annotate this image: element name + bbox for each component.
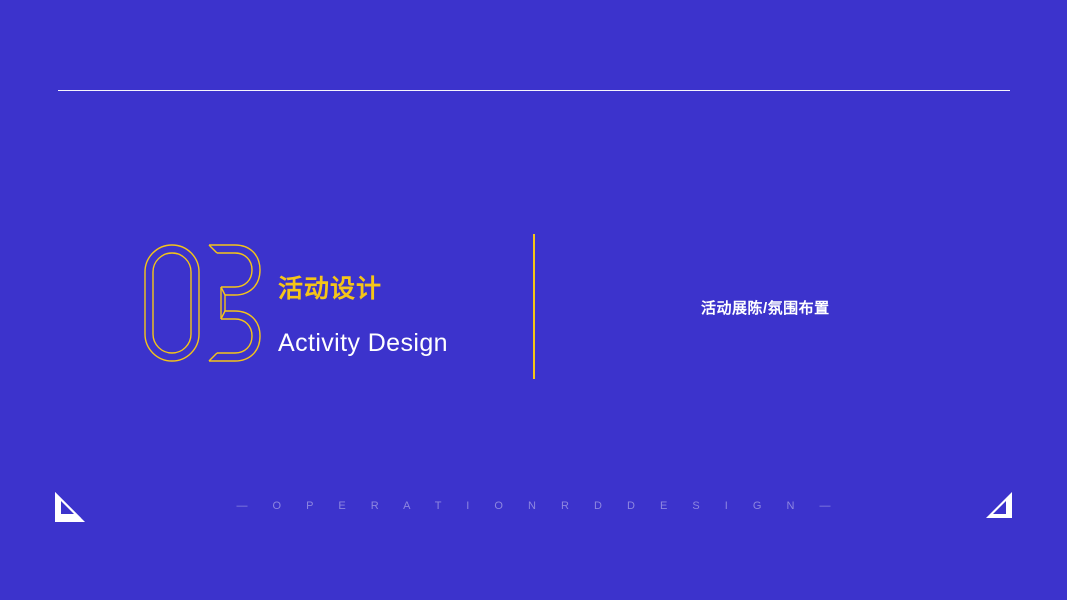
section-title-cn: 活动设计 <box>278 272 518 306</box>
corner-triangle-left-icon <box>55 492 85 522</box>
vertical-divider <box>533 234 535 379</box>
corner-triangle-right-icon <box>982 492 1012 522</box>
section-caption: 活动展陈/氛围布置 <box>701 297 830 318</box>
section-number-graphic <box>143 243 263 363</box>
presentation-slide: 活动设计 Activity Design 活动展陈/氛围布置 — O P E R… <box>0 0 1067 600</box>
section-title-en: Activity Design <box>278 326 518 360</box>
section-title-block: 活动设计 Activity Design <box>278 272 518 360</box>
footer-label: — O P E R A T I O N R D D E S I G N — <box>0 500 1067 512</box>
top-divider-line <box>58 90 1010 91</box>
